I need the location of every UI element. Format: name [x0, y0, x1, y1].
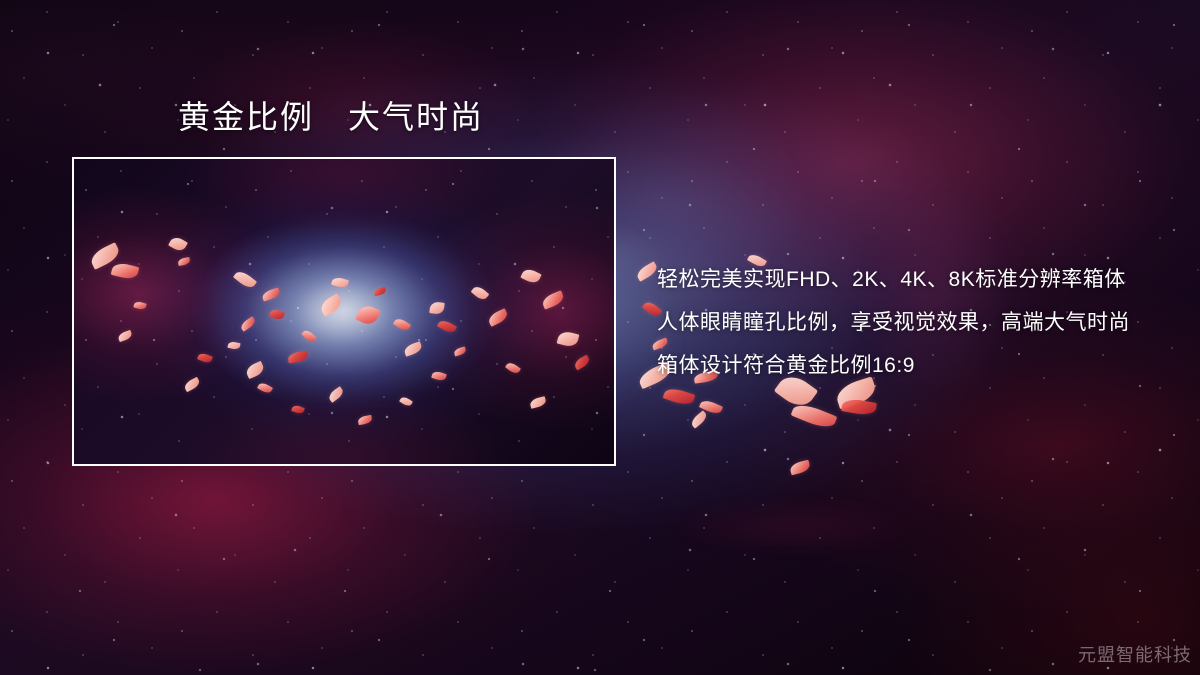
- body-line: 轻松完美实现FHD、2K、4K、8K标准分辨率箱体: [657, 258, 1177, 301]
- body-text-block: 轻松完美实现FHD、2K、4K、8K标准分辨率箱体 人体眼睛瞳孔比例，享受视觉效…: [657, 258, 1177, 387]
- framed-image-panel: [72, 157, 616, 466]
- page-title: 黄金比例 大气时尚: [178, 99, 484, 136]
- slide-canvas: 黄金比例 大气时尚 轻松完美实现FHD、2K、4K、8K标准分辨率箱体 人体眼睛…: [0, 0, 1200, 675]
- watermark: 元盟智能科技: [1078, 641, 1192, 667]
- panel-starfield-mid: [74, 159, 614, 464]
- body-line: 人体眼睛瞳孔比例，享受视觉效果，高端大气时尚: [657, 301, 1177, 344]
- body-line: 箱体设计符合黄金比例16:9: [657, 344, 1177, 387]
